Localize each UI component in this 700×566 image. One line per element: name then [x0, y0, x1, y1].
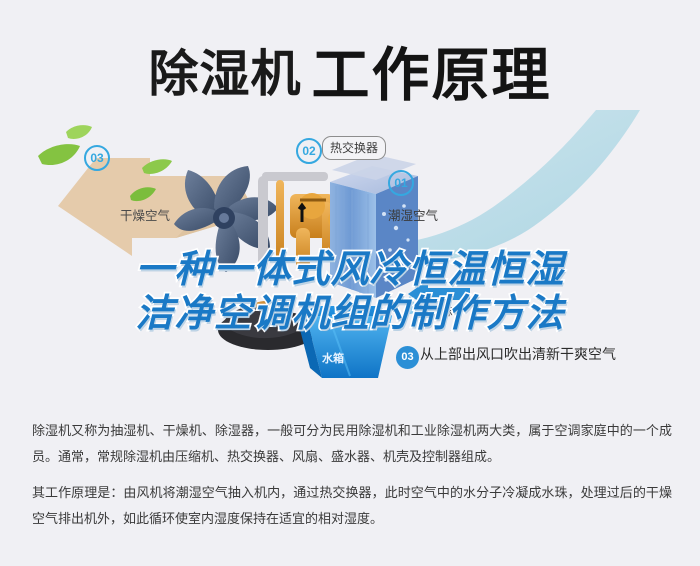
dehumidifier-diagram: 03 02 01 03 热交换器 干燥空气 潮湿空气 水箱 成水珠 从上部出风口… [0, 110, 700, 410]
caption-badge-03: 03 [396, 346, 419, 369]
page-title-part1: 除湿机 [148, 46, 301, 102]
water-tank-shape [298, 306, 392, 378]
body-paragraph-2: 其工作原理是：由风机将潮湿空气抽入机内，通过热交换器，此时空气中的水分子冷凝成水… [32, 480, 672, 532]
label-dry-air: 干燥空气 [120, 205, 170, 224]
page-root: 除湿机工作原理 [0, 0, 700, 566]
step-badge-02: 02 [296, 138, 322, 164]
label-condense-droplets: 成水珠 [417, 302, 453, 319]
page-title-part2: 工作原理 [311, 43, 551, 108]
body-paragraph-1: 除湿机又称为抽湿机、干燥机、除湿器，一般可分为民用除湿机和工业除湿机两大类，属于… [32, 418, 672, 470]
label-humid-air: 潮湿空气 [388, 205, 438, 224]
article-body: 除湿机又称为抽湿机、干燥机、除湿器，一般可分为民用除湿机和工业除湿机两大类，属于… [32, 418, 672, 542]
step-badge-03: 03 [84, 145, 110, 171]
label-water-tank: 水箱 [322, 350, 344, 366]
heat-exchanger-callout: 热交换器 [322, 136, 386, 160]
water-droplet-icon [404, 296, 416, 314]
step-badge-01: 01 [388, 170, 414, 196]
page-title: 除湿机工作原理 [0, 28, 700, 112]
caption-step-03: 从上部出风口吹出清新干爽空气 [420, 344, 616, 364]
